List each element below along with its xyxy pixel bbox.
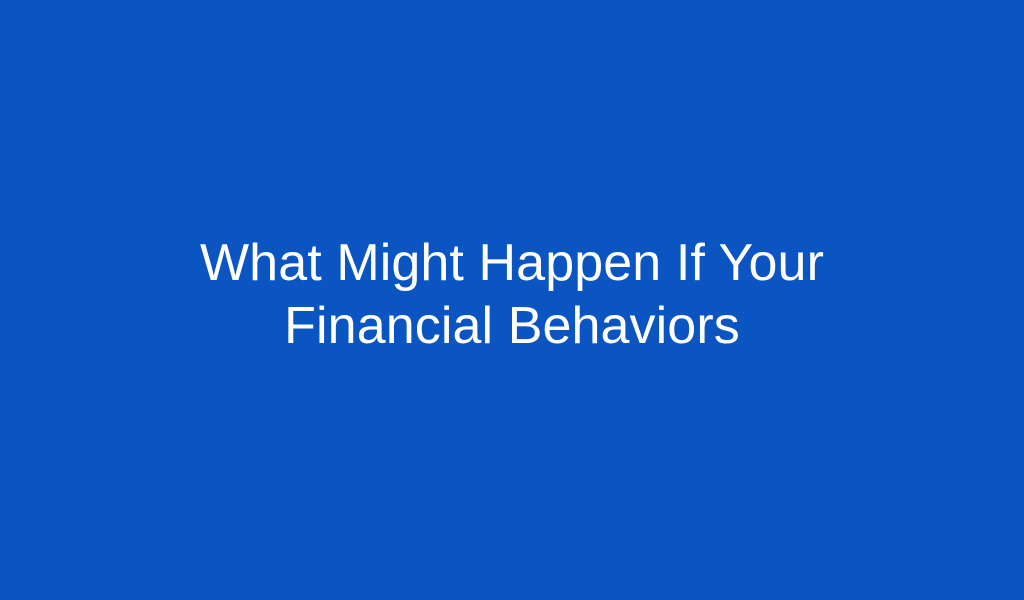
article-banner: What Might Happen If Your Financial Beha… [0,0,1024,600]
banner-title-block: What Might Happen If Your Financial Beha… [106,232,918,358]
page-title: What Might Happen If Your Financial Beha… [106,232,918,358]
